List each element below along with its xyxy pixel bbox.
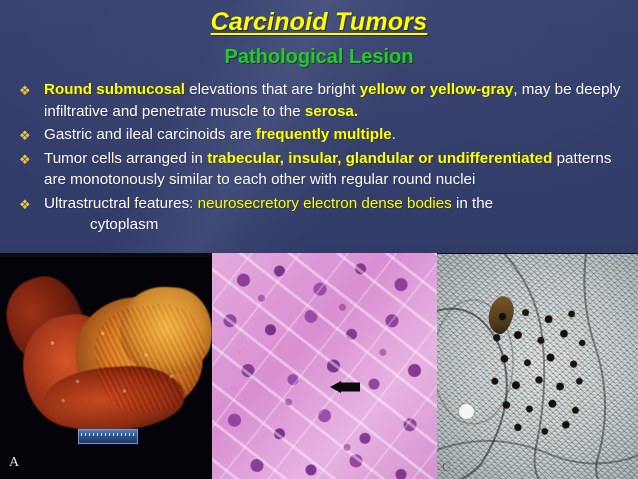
bullet-1-seg-4: serosa.: [305, 103, 358, 120]
bullet-diamond-icon: ❖: [19, 195, 31, 214]
bullet-text-1: Round submucosal elevations that are bri…: [44, 79, 624, 122]
panel-label-c: C: [442, 459, 451, 475]
scale-bar: [78, 429, 138, 444]
bullet-item-3: ❖ Tumor cells arranged in trabecular, in…: [0, 148, 638, 191]
bullet-2-seg-1: frequently multiple: [256, 126, 392, 143]
panel-label-a: A: [9, 455, 19, 471]
bullet-2-seg-2: .: [392, 126, 396, 143]
bullet-diamond-icon: ❖: [19, 150, 31, 169]
bullet-item-1: ❖ Round submucosal elevations that are b…: [0, 79, 638, 122]
bullet-diamond-icon: ❖: [19, 81, 31, 100]
bullet-1-seg-0: Round submucosal: [44, 81, 185, 98]
bullet-item-2: ❖ Gastric and ileal carcinoids are frequ…: [0, 124, 638, 146]
em-neurosecretory-granules: [491, 306, 587, 438]
bullet-diamond-icon: ❖: [19, 126, 31, 145]
bullet-3-seg-0: Tumor cells arranged in: [44, 150, 207, 167]
bullet-text-4: Ultrastructral features: neurosecretory …: [44, 193, 624, 236]
bullet-list: ❖ Round submucosal elevations that are b…: [0, 79, 638, 238]
bullet-item-4: ❖ Ultrastructral features: neurosecretor…: [0, 193, 638, 236]
bullet-4-seg-2: in the: [452, 195, 493, 212]
slide-canvas: Carcinoid Tumors Pathological Lesion ❖ R…: [0, 0, 638, 479]
slide-subtitle: Pathological Lesion: [0, 46, 638, 69]
image-gross-specimen: A: [0, 257, 212, 479]
bullet-1-seg-2: yellow or yellow-gray: [360, 81, 514, 98]
bullet-2-seg-0: Gastric and ileal carcinoids are: [44, 126, 256, 143]
image-electron-micrograph: C: [437, 254, 638, 479]
image-strip: A C: [0, 253, 638, 479]
bullet-1-seg-1: elevations that are bright: [185, 81, 360, 98]
bullet-text-2: Gastric and ileal carcinoids are frequen…: [44, 124, 624, 146]
bullet-4-seg-0: Ultrastructral features:: [44, 195, 198, 212]
bullet-text-3: Tumor cells arranged in trabecular, insu…: [44, 148, 624, 191]
bullet-4-continuation: cytoplasm: [44, 214, 624, 236]
image-histology-he: [212, 253, 437, 479]
histology-nuclei-grain: [212, 253, 437, 479]
bullet-4-seg-1: neurosecretory electron dense bodies: [198, 195, 452, 212]
em-vacuole: [459, 404, 474, 419]
slide-title: Carcinoid Tumors: [0, 8, 638, 37]
gross-surface-specks: [20, 307, 200, 427]
bullet-3-seg-1: trabecular, insular, glandular or undiff…: [207, 150, 552, 167]
histology-arrow-annotation: [330, 381, 360, 393]
